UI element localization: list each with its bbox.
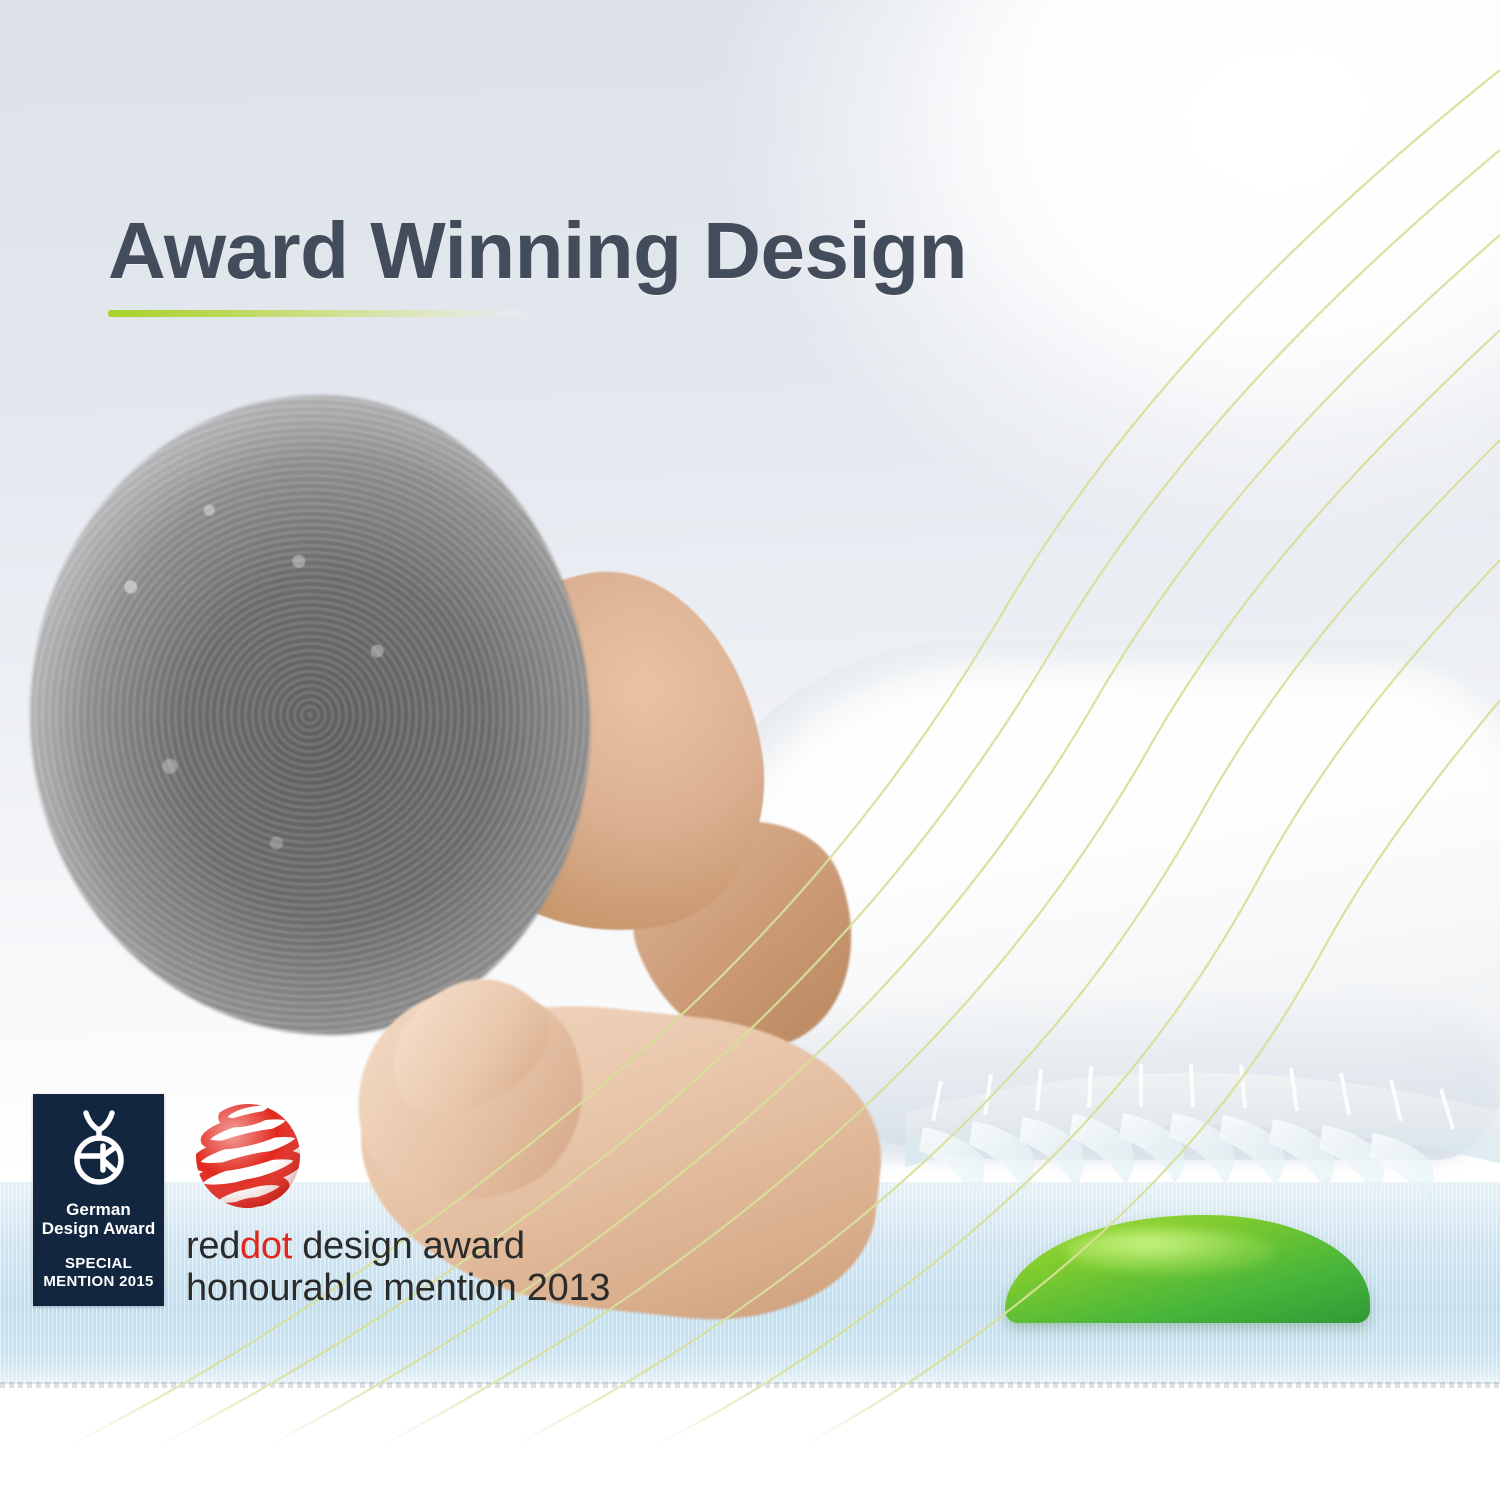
- gda-title-line1: German: [66, 1200, 131, 1219]
- bottom-white-fade: [0, 1370, 1500, 1500]
- reddot-sphere-icon: [192, 1096, 304, 1214]
- reddot-design-award-badge: reddot design award honourable mention 2…: [186, 1094, 610, 1309]
- german-design-award-badge: German Design Award SPECIAL MENTION 2015: [33, 1094, 164, 1306]
- reddot-word-dot: dot: [240, 1225, 292, 1267]
- gda-subtitle-line1: SPECIAL: [65, 1255, 132, 1273]
- headline-block: Award Winning Design: [108, 212, 1108, 317]
- page-title: Award Winning Design: [108, 212, 1108, 290]
- german-design-award-logo-icon: [62, 1108, 136, 1190]
- award-badges: German Design Award SPECIAL MENTION 2015: [33, 1094, 610, 1309]
- reddot-text-block: reddot design award honourable mention 2…: [186, 1226, 610, 1309]
- reddot-words-design-award: design award: [292, 1225, 525, 1267]
- reddot-line1: reddot design award: [186, 1226, 610, 1266]
- reddot-word-red: red: [186, 1225, 240, 1267]
- green-device-highlight: [1065, 1228, 1275, 1274]
- headline-accent-rule: [108, 310, 578, 317]
- gda-title-line2: Design Award: [42, 1219, 156, 1238]
- curly-hair-texture: [30, 395, 590, 1035]
- gda-subtitle-line2: MENTION 2015: [43, 1273, 153, 1291]
- reddot-line2: honourable mention 2013: [186, 1268, 610, 1308]
- award-winning-design-poster: Award Winning Design German Design Award…: [0, 0, 1500, 1500]
